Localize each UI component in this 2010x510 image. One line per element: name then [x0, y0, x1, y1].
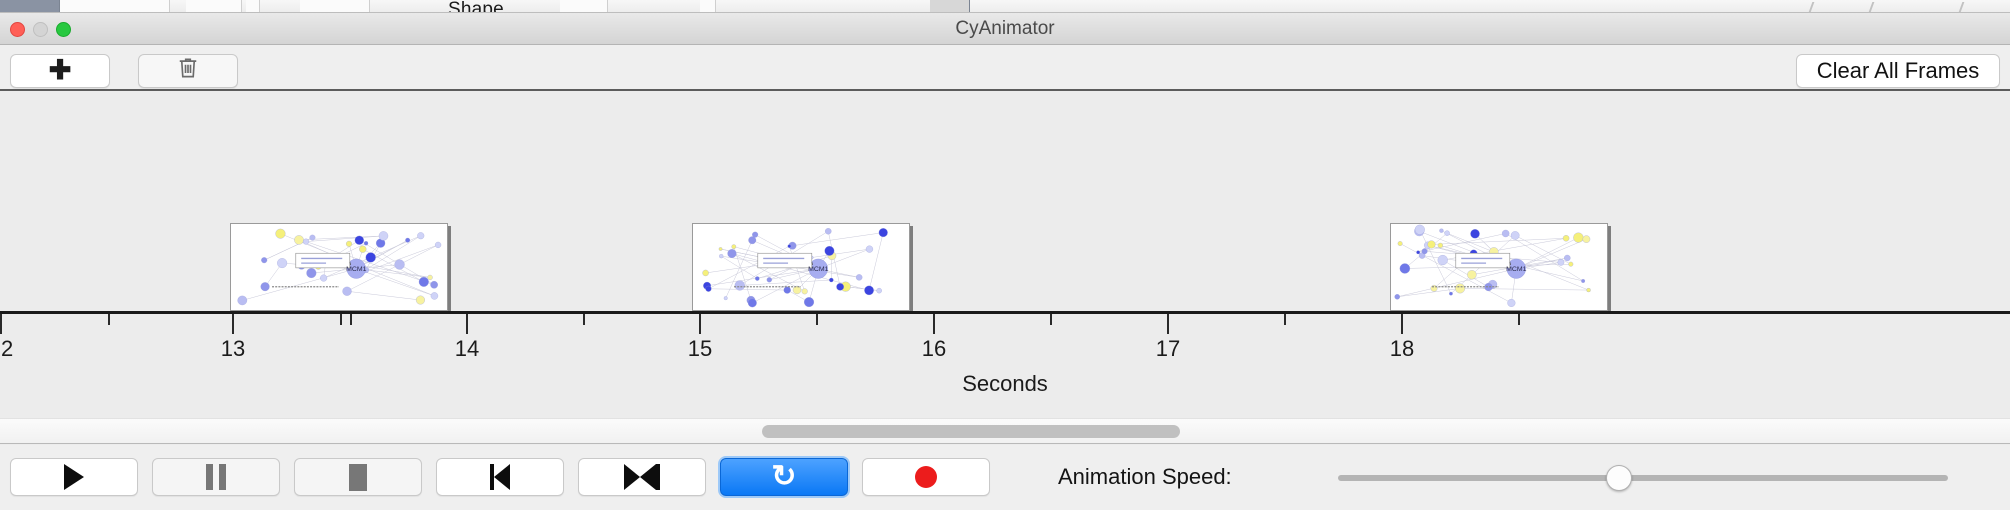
animation-speed-slider[interactable] — [1338, 475, 1948, 481]
record-icon — [915, 466, 937, 488]
svg-text:MCM1: MCM1 — [1506, 266, 1527, 273]
delete-frame-button[interactable] — [138, 54, 238, 88]
clear-all-frames-button[interactable]: Clear All Frames — [1796, 54, 2000, 88]
frame-thumbnail-3[interactable]: MCM1 — [1390, 223, 1608, 311]
background-window-label: Shape — [448, 0, 504, 13]
axis-tick — [1050, 314, 1052, 325]
svg-text:MCM1: MCM1 — [346, 266, 367, 273]
axis-tick — [1167, 314, 1169, 334]
frames-track: MCM1 MCM1 MCM1 — [0, 91, 2010, 311]
axis-tick — [1401, 314, 1403, 334]
skip-forward-icon — [624, 464, 660, 490]
toolbar: ✚ Clear All Frames — [0, 45, 2010, 91]
axis-tick — [350, 314, 352, 325]
network-preview: MCM1 — [231, 224, 447, 310]
pause-icon — [206, 464, 226, 490]
axis-tick — [466, 314, 468, 334]
axis-tick-label: 15 — [688, 336, 712, 362]
horizontal-scrollbar[interactable] — [0, 418, 2010, 444]
clear-all-frames-label: Clear All Frames — [1817, 58, 1980, 84]
timeline-panel[interactable]: MCM1 MCM1 MCM1 12131415161718 Seconds — [0, 91, 2010, 418]
stop-button[interactable] — [294, 458, 422, 496]
cyanimator-window: Shape CyAnimator ✚ Clear All Fra — [0, 0, 2010, 510]
axis-tick-label: 18 — [1390, 336, 1414, 362]
axis-tick-label: 14 — [455, 336, 479, 362]
animation-speed-slider-thumb[interactable] — [1606, 465, 1632, 491]
play-button[interactable] — [10, 458, 138, 496]
axis-tick — [816, 314, 818, 325]
axis-tick — [1518, 314, 1520, 325]
svg-text:MCM1: MCM1 — [808, 266, 829, 273]
axis-tick-label: 16 — [922, 336, 946, 362]
play-icon — [64, 464, 84, 490]
background-window-strip: Shape — [0, 0, 2010, 13]
axis-tick — [108, 314, 110, 325]
network-preview: MCM1 — [693, 224, 909, 310]
animation-speed-label: Animation Speed: — [1058, 458, 1232, 496]
record-button[interactable] — [862, 458, 990, 496]
axis-tick — [232, 314, 234, 334]
pause-button[interactable] — [152, 458, 280, 496]
network-preview: MCM1 — [1391, 224, 1607, 310]
playback-control-bar: ↻ Animation Speed: — [0, 445, 2010, 510]
axis-tick — [1284, 314, 1286, 325]
axis-tick — [699, 314, 701, 334]
axis-tick — [340, 314, 342, 325]
axis-tick-label: 12 — [0, 336, 13, 362]
trash-icon — [177, 56, 199, 86]
loop-button[interactable]: ↻ — [720, 458, 848, 496]
stop-icon — [349, 464, 367, 491]
horizontal-scrollbar-thumb[interactable] — [762, 425, 1180, 438]
frame-thumbnail-2[interactable]: MCM1 — [692, 223, 910, 311]
title-bar: CyAnimator — [0, 13, 2010, 45]
axis-title: Seconds — [0, 371, 2010, 397]
axis-tick-label: 13 — [221, 336, 245, 362]
skip-backward-icon — [490, 464, 510, 490]
timeline-axis-line — [0, 311, 2010, 314]
skip-forward-button[interactable] — [578, 458, 706, 496]
axis-tick — [583, 314, 585, 325]
axis-tick-label: 17 — [1156, 336, 1180, 362]
loop-icon: ↻ — [771, 462, 796, 492]
skip-backward-button[interactable] — [436, 458, 564, 496]
axis-tick — [933, 314, 935, 334]
frame-thumbnail-1[interactable]: MCM1 — [230, 223, 448, 311]
plus-icon: ✚ — [49, 57, 72, 84]
add-frame-button[interactable]: ✚ — [10, 54, 110, 88]
window-title: CyAnimator — [0, 13, 2010, 45]
axis-tick — [0, 314, 2, 334]
